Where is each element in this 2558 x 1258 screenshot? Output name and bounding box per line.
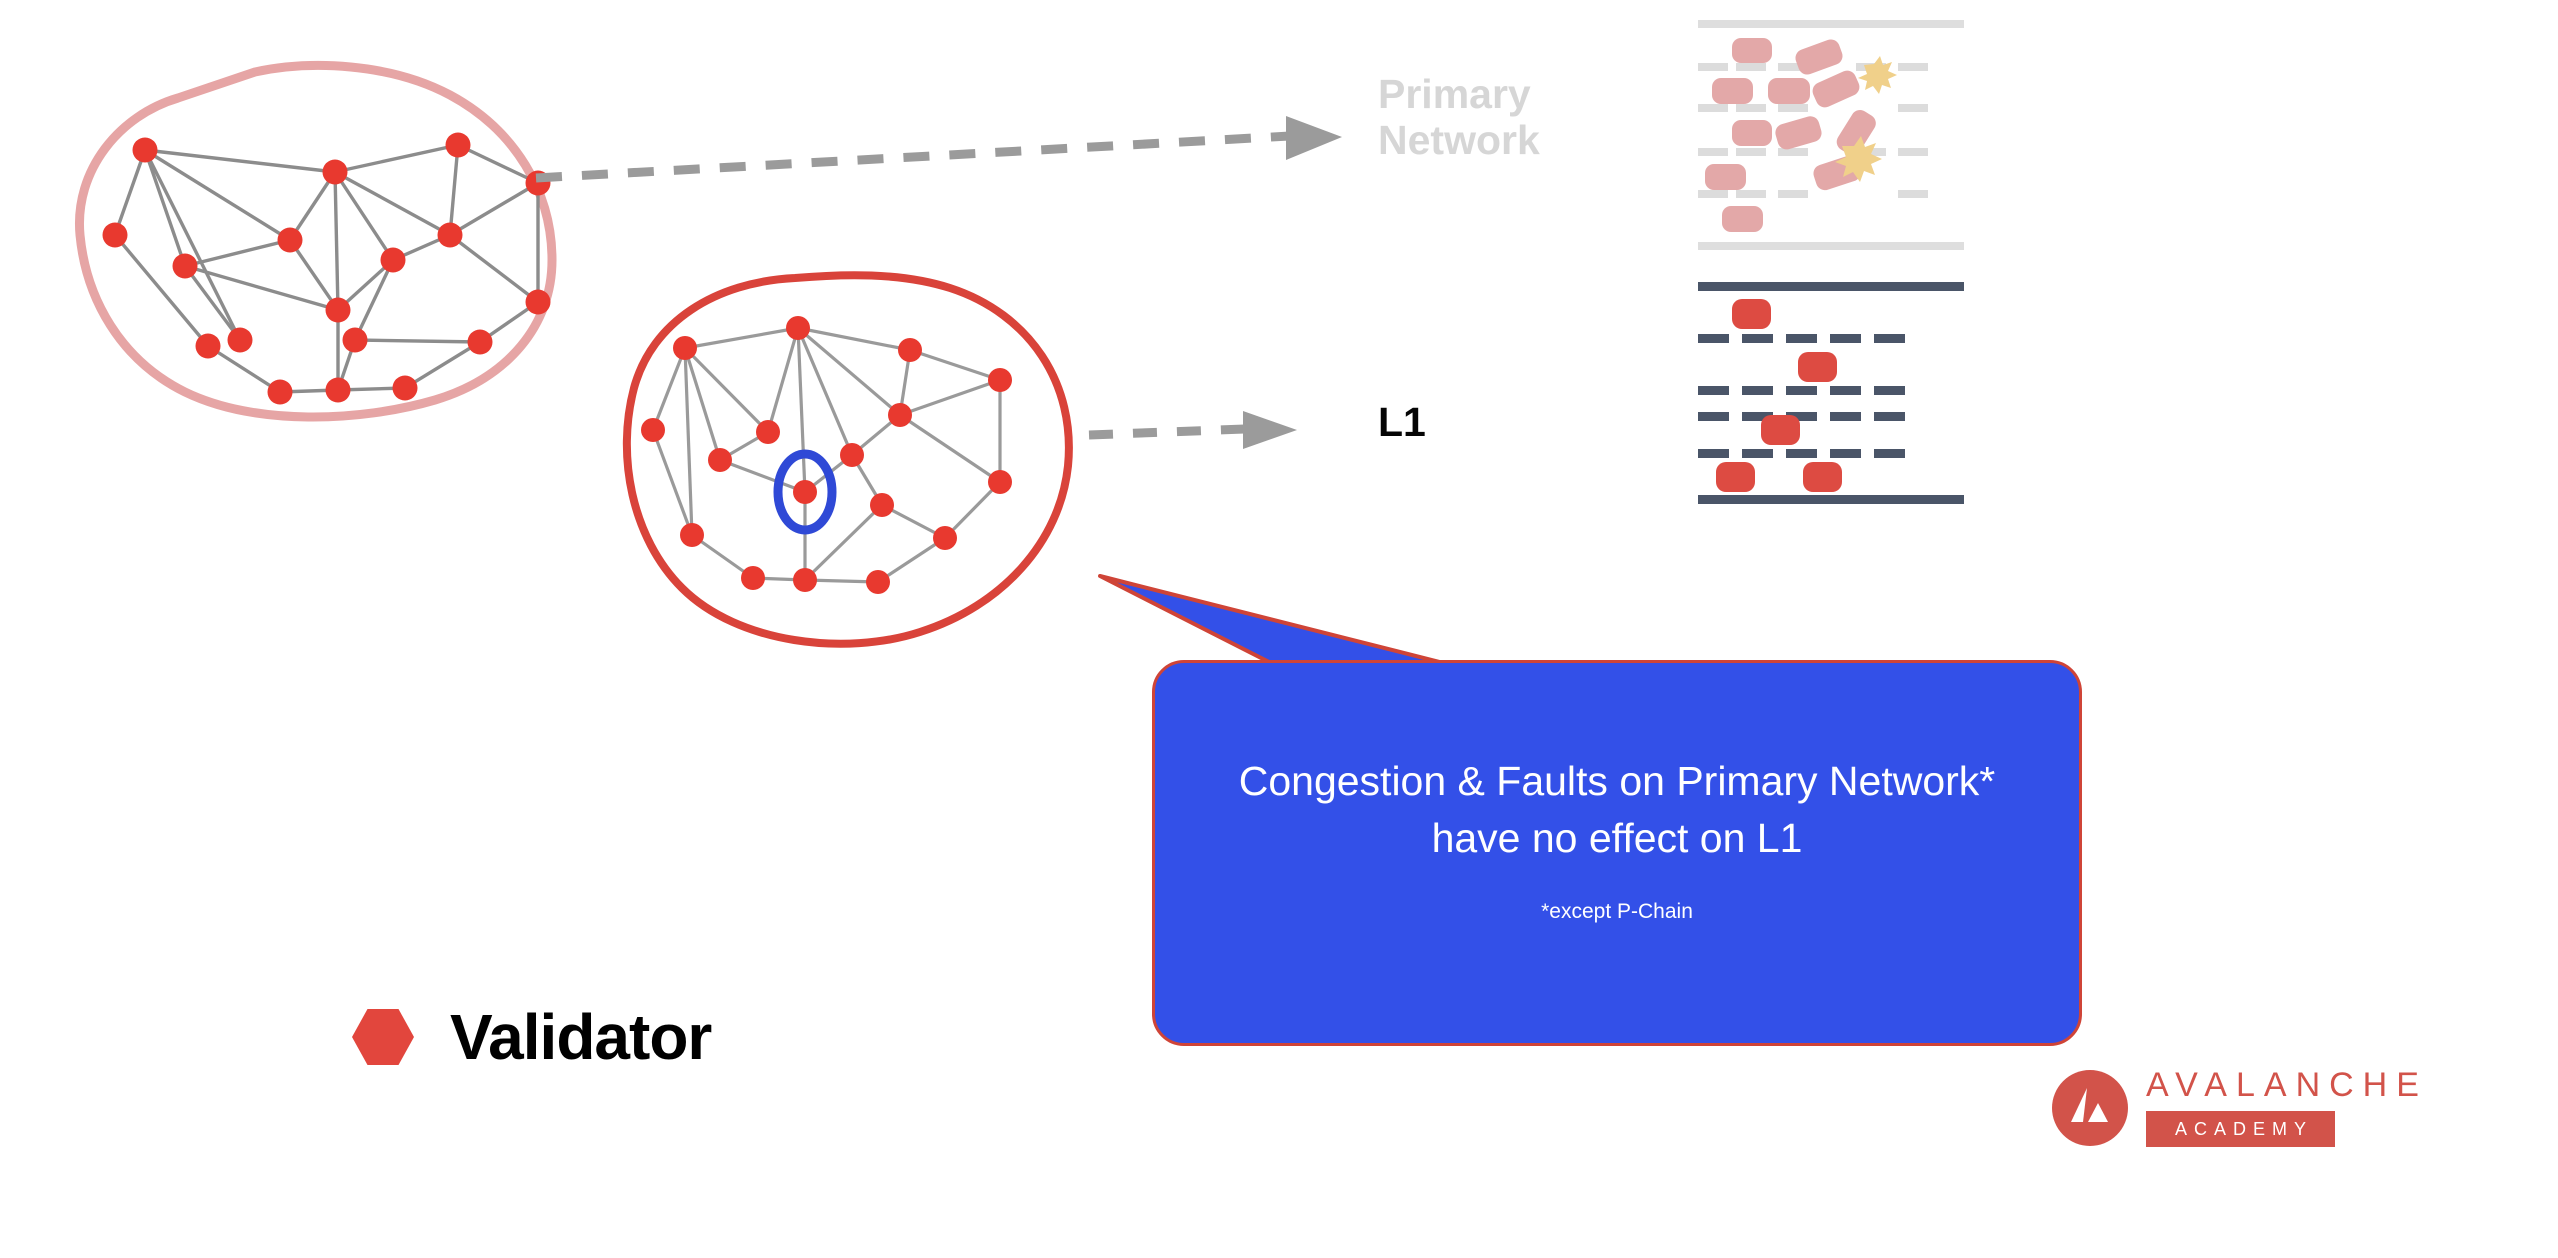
dashed-line [536,136,1290,178]
primary-network-boundary [79,66,552,418]
arrow-to-primary-network [530,110,1370,210]
callout-headline: Congestion & Faults on Primary Network* … [1202,753,2032,866]
legend: Validator [352,1000,711,1074]
avalanche-academy-logo: AVALANCHE ACADEMY [2052,1068,2428,1147]
callout-box: Congestion & Faults on Primary Network* … [1152,660,2082,1046]
avalanche-logo-icon [2052,1070,2128,1146]
primary-network-graph [60,20,580,430]
arrowhead [1286,116,1342,160]
arrow-to-l1 [1085,395,1335,475]
l1-label: L1 [1378,400,1426,446]
dashed-line [1089,429,1245,435]
primary-network-nodes [103,133,551,405]
l1-network-graph [620,270,1090,650]
slide-canvas: Primary Network L1 [0,0,2558,1258]
logo-academy-badge: ACADEMY [2146,1111,2335,1147]
primary-network-label: Primary Network [1378,72,1540,164]
legend-label: Validator [450,1000,711,1074]
logo-wordmark: AVALANCHE [2146,1068,2428,1102]
validator-hexagon-icon [352,1009,414,1065]
primary-chain-diagram [1698,20,1964,250]
l1-chain-diagram [1698,282,1964,504]
l1-blocks [1716,299,1842,492]
arrowhead [1243,411,1297,449]
chain-dashes [1698,334,1905,458]
callout-footnote: *except P-Chain [1202,900,2032,924]
